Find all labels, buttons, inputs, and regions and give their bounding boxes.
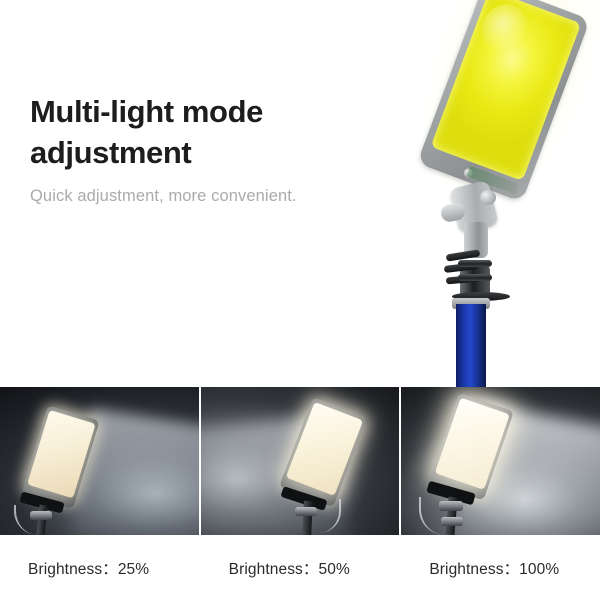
power-cord xyxy=(419,497,445,535)
brightness-demo-25 xyxy=(0,387,199,535)
cob-led-surface xyxy=(431,0,582,181)
collar-ring xyxy=(458,260,492,267)
demo-lamp-stem xyxy=(302,501,313,535)
demo-lamp-head xyxy=(21,405,100,509)
power-cord xyxy=(319,499,341,533)
collar-ring xyxy=(458,274,492,281)
caption-cell-50: Brightness：50% xyxy=(201,535,400,600)
brightness-demo-50 xyxy=(201,387,400,535)
caption-cell-25: Brightness：25% xyxy=(0,535,199,600)
pivot-bolt-icon xyxy=(480,190,496,205)
demo-lamp-clamp xyxy=(295,507,317,516)
lamp-panel-housing xyxy=(417,0,590,202)
telescoping-pole xyxy=(456,304,486,387)
demo-lamp-face xyxy=(435,397,510,490)
demo-lamp-housing xyxy=(21,405,100,509)
page-subtitle: Quick adjustment, more convenient. xyxy=(30,186,390,207)
caption-cell-100: Brightness：100% xyxy=(401,535,600,600)
power-cord xyxy=(14,505,38,535)
page-title: Multi-light mode adjustment xyxy=(30,92,390,174)
hero-section: Multi-light mode adjustment Quick adjust… xyxy=(0,0,600,387)
brightness-caption-row: Brightness：25% Brightness：50% Brightness… xyxy=(0,535,600,600)
brightness-label-100: Brightness：100% xyxy=(429,557,559,579)
hero-copy-block: Multi-light mode adjustment Quick adjust… xyxy=(30,92,390,207)
product-feature-image: Multi-light mode adjustment Quick adjust… xyxy=(0,0,600,600)
brightness-demo-row xyxy=(0,387,600,535)
brightness-demo-100 xyxy=(401,387,600,535)
demo-lamp-face xyxy=(27,409,96,498)
demo-lamp-face xyxy=(285,402,363,497)
brightness-label-50: Brightness：50% xyxy=(229,557,350,579)
brightness-label-25: Brightness：25% xyxy=(28,557,149,579)
